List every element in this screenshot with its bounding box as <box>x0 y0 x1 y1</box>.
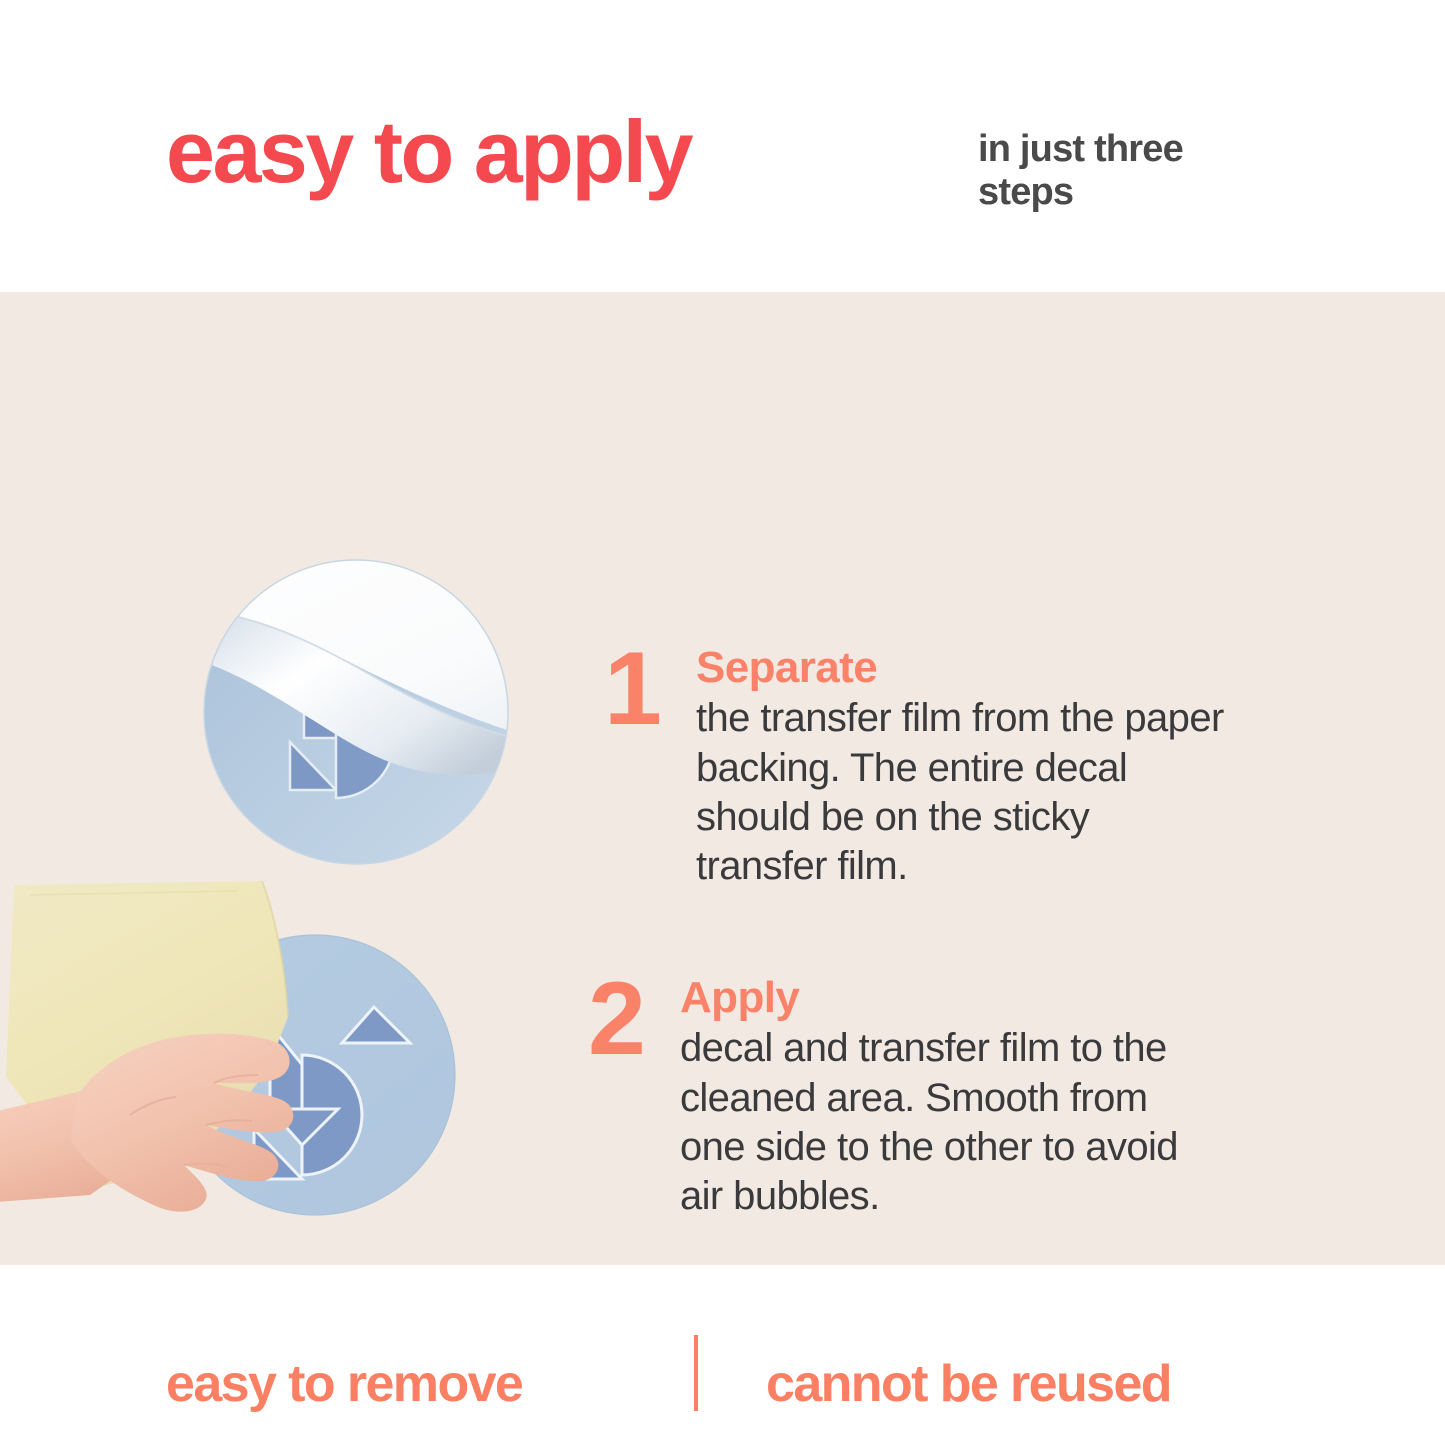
step-2-number: 2 <box>588 974 680 1066</box>
step-1-body: Separate the transfer film from the pape… <box>696 644 1244 891</box>
step-1-heading: Separate <box>696 644 1244 692</box>
page-subtitle: in just three steps <box>978 128 1258 213</box>
infographic-page: easy to apply in just three steps <box>0 0 1445 1445</box>
step-1-number: 1 <box>604 644 696 736</box>
step-2-body: Apply decal and transfer film to the cle… <box>680 974 1248 1221</box>
step-2-heading: Apply <box>680 974 1248 1022</box>
step-1-description: the transfer film from the paper backing… <box>696 694 1226 891</box>
footer-cannot-be-reused-label: cannot be reused <box>766 1358 1171 1410</box>
step-2-illustration <box>0 877 530 1265</box>
step-1-text-block: 1 Separate the transfer film from the pa… <box>604 644 1244 891</box>
step-1-illustration <box>186 542 526 882</box>
footer-section: easy to remove cannot be reused <box>0 1265 1445 1445</box>
footer-easy-to-remove-label: easy to remove <box>166 1358 522 1410</box>
steps-band: 1 Separate the transfer film from the pa… <box>0 292 1445 1265</box>
step-2-text-block: 2 Apply decal and transfer film to the c… <box>588 974 1248 1221</box>
page-title: easy to apply <box>166 108 691 196</box>
header-section: easy to apply in just three steps <box>0 0 1445 292</box>
step-2-description: decal and transfer film to the cleaned a… <box>680 1024 1210 1221</box>
footer-divider <box>694 1335 698 1411</box>
